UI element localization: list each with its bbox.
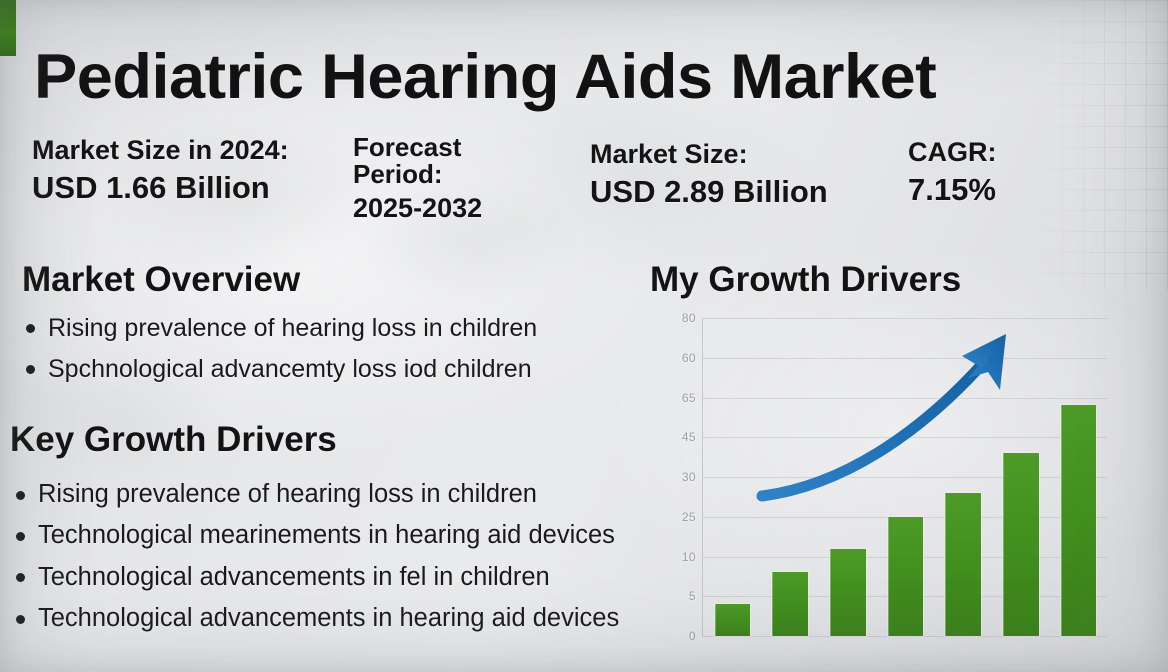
chart-y-tick-label: 80 [682, 311, 696, 325]
chart-y-tick-label: 65 [682, 391, 696, 405]
chart-bar [715, 604, 751, 636]
page-title: Pediatric Hearing Aids Market [34, 46, 1064, 109]
stat-value: 2025-2032 [353, 193, 482, 224]
chart-y-tick-label: 25 [682, 510, 696, 524]
stat-cagr: CAGR: 7.15% [908, 138, 997, 208]
list-item: Rising prevalence of hearing loss in chi… [4, 474, 619, 515]
chart-gridline [703, 358, 1107, 359]
chart-y-tick-label: 30 [682, 470, 696, 484]
chart-bar [945, 493, 981, 636]
chart-y-tick-label: 5 [689, 589, 696, 603]
list-item: Technological advancements in fel in chi… [4, 557, 619, 598]
chart-y-axis: 8060654530251050 [660, 318, 698, 628]
list-item: Technological mearinements in hearing ai… [4, 515, 619, 556]
stat-label-line2: Period: [353, 161, 482, 188]
stat-value: USD 2.89 Billion [590, 174, 828, 210]
bullet-list-key-growth-drivers: Rising prevalence of hearing loss in chi… [4, 474, 619, 639]
stat-label-line1: Forecast [353, 134, 482, 161]
chart-gridline [703, 477, 1107, 478]
stat-forecast-period: Forecast Period: 2025-2032 [353, 134, 482, 224]
accent-bar [0, 0, 16, 56]
stat-label: Market Size: [590, 140, 828, 168]
chart-gridline [703, 318, 1107, 319]
stat-label: CAGR: [908, 138, 997, 166]
section-heading-market-overview: Market Overview [22, 260, 300, 300]
chart-plot-area [702, 318, 1107, 637]
chart-bar [1061, 405, 1097, 636]
list-item: Technological advancements in hearing ai… [4, 598, 619, 639]
section-heading-key-growth-drivers: Key Growth Drivers [10, 420, 337, 460]
chart-y-tick-label: 10 [682, 550, 696, 564]
chart-bar [772, 572, 808, 636]
chart-y-tick-label: 45 [682, 430, 696, 444]
slide-canvas: Pediatric Hearing Aids Market Market Siz… [0, 0, 1168, 672]
chart-gridline [703, 437, 1107, 438]
stat-value: 7.15% [908, 172, 997, 208]
chart-bar [830, 549, 866, 636]
stat-value: USD 1.66 Billion [32, 170, 289, 206]
chart-y-tick-label: 0 [689, 629, 696, 643]
growth-bar-chart: 8060654530251050 [660, 318, 1110, 648]
list-item: Rising prevalence of hearing loss in chi… [14, 308, 537, 349]
stat-market-size-2024: Market Size in 2024: USD 1.66 Billion [32, 136, 289, 206]
stats-row: Market Size in 2024: USD 1.66 Billion Fo… [28, 132, 1088, 242]
chart-bar [888, 517, 924, 636]
chart-y-tick-label: 60 [682, 351, 696, 365]
chart-bar [1003, 453, 1039, 636]
stat-market-size-forecast: Market Size: USD 2.89 Billion [590, 140, 828, 210]
chart-gridline [703, 398, 1107, 399]
stat-label: Market Size in 2024: [32, 136, 289, 164]
list-item: Spchnological advancemty loss iod childr… [14, 349, 537, 390]
bullet-list-market-overview: Rising prevalence of hearing loss in chi… [14, 308, 537, 389]
section-heading-my-growth-drivers: My Growth Drivers [650, 260, 961, 300]
